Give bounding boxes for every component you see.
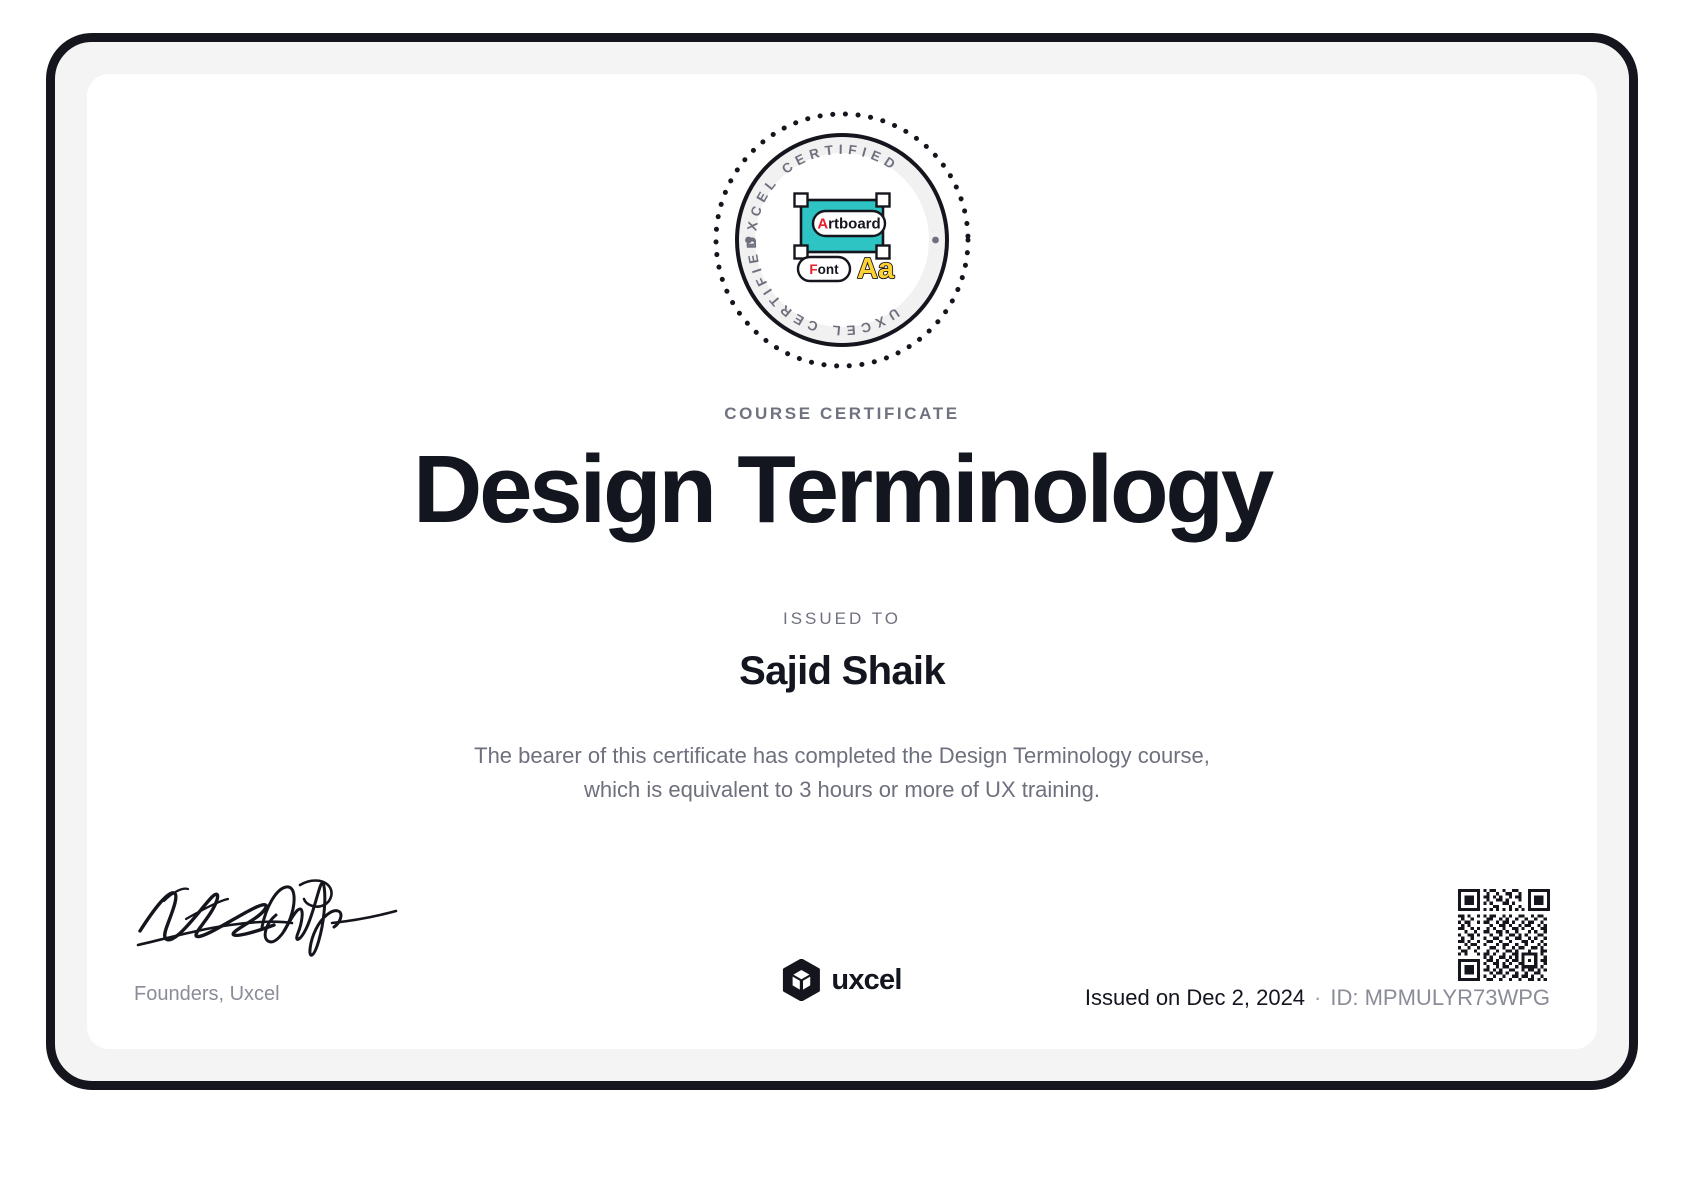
font-pill-label: Font: [809, 262, 839, 277]
certificate-description: The bearer of this certificate has compl…: [87, 739, 1597, 807]
description-line-1: The bearer of this certificate has compl…: [87, 739, 1597, 773]
selection-handle-top-left: [795, 194, 808, 207]
issue-meta-line: Issued on Dec 2, 2024·ID: MPMULYR73WPG: [1085, 985, 1550, 1011]
certificate-id: ID: MPMULYR73WPG: [1330, 985, 1550, 1010]
certificate-footer: Founders, Uxcel uxcel: [87, 829, 1597, 1049]
uxcel-wordmark: uxcel: [831, 964, 901, 997]
certificate-card: UXCEL CERTIFIED UXCEL CERTIFIED: [87, 74, 1597, 1049]
uxcel-brand: uxcel: [782, 959, 901, 1001]
certificate-frame: UXCEL CERTIFIED UXCEL CERTIFIED: [46, 33, 1638, 1090]
type-sample-label: Aa: [857, 253, 895, 285]
seal-artwork: Artboard Font Aa: [795, 194, 895, 286]
signature-block: Founders, Uxcel: [134, 879, 564, 1006]
verification-qr-code[interactable]: [1458, 889, 1550, 981]
selection-handle-top-right: [877, 194, 890, 207]
issued-on-date: Issued on Dec 2, 2024: [1085, 985, 1305, 1010]
signature-caption: Founders, Uxcel: [134, 983, 564, 1006]
artboard-pill-label: Artboard: [817, 216, 880, 233]
recipient-name: Sajid Shaik: [87, 649, 1597, 694]
qr-code-icon: [1458, 889, 1550, 981]
founders-signature-icon: [134, 879, 424, 961]
meta-separator: ·: [1305, 985, 1330, 1010]
uxcel-logo-icon: [782, 959, 820, 1001]
issued-to-label: ISSUED TO: [87, 609, 1597, 629]
certificate-eyebrow: COURSE CERTIFICATE: [87, 404, 1597, 424]
seal-bullet-left: [745, 237, 752, 244]
certificate-meta: Issued on Dec 2, 2024·ID: MPMULYR73WPG: [990, 889, 1550, 1049]
page-title: Design Terminology: [87, 439, 1597, 541]
description-line-2: which is equivalent to 3 hours or more o…: [87, 773, 1597, 807]
seal-icon: UXCEL CERTIFIED UXCEL CERTIFIED: [709, 107, 975, 373]
uxcel-certified-seal: UXCEL CERTIFIED UXCEL CERTIFIED: [709, 107, 975, 373]
seal-bullet-right: [932, 237, 939, 244]
